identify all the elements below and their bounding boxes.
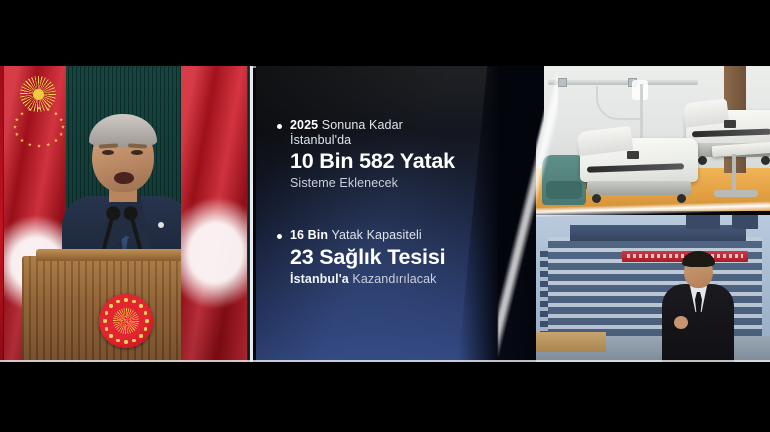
tray-table-leg xyxy=(732,154,736,192)
roof-unit xyxy=(732,215,758,229)
hospital-bed-front xyxy=(580,138,698,182)
bed-wheel xyxy=(761,156,770,165)
presidential-seal-icon xyxy=(99,294,153,348)
speaker-mouth xyxy=(114,172,134,184)
reporter-hand xyxy=(674,316,688,329)
left-panel-podium-speaker xyxy=(0,66,253,362)
bed-control-panel xyxy=(627,151,639,159)
reporter-hair xyxy=(682,251,715,267)
lapel-pin xyxy=(158,222,164,228)
eye-right xyxy=(131,150,143,155)
tray-table-foot xyxy=(714,190,758,197)
wall-rail xyxy=(548,80,698,85)
band-bottom-edge xyxy=(0,360,770,362)
right-bottom-hospital-exterior xyxy=(536,215,770,362)
speaker-figure xyxy=(62,118,190,268)
screenshot-root: 2025 Sonuna Kadar İstanbul'da 10 Bin 582… xyxy=(0,0,770,432)
center-panel-statistics-graphic: 2025 Sonuna Kadar İstanbul'da 10 Bin 582… xyxy=(256,66,536,362)
hospital-bed-back xyxy=(686,110,770,144)
stat1-year: 2025 xyxy=(290,118,318,132)
stat1-line1-rest: Sonuna Kadar xyxy=(318,118,403,132)
right-top-hospital-room xyxy=(536,66,770,211)
construction-ground xyxy=(536,332,606,352)
seal-sunburst-icon xyxy=(113,308,139,334)
wall-outlet xyxy=(558,78,567,87)
stat2-city: İstanbul'a xyxy=(290,272,349,286)
bed-control-panel xyxy=(724,120,736,128)
stat2-capacity: 16 Bin xyxy=(290,228,328,242)
left-frame-edge xyxy=(0,66,3,362)
stat2-line1-rest: Yatak Kapasiteli xyxy=(328,228,422,242)
bed-wheel xyxy=(592,194,601,203)
eye-left xyxy=(102,150,114,155)
bed-wheel xyxy=(698,156,707,165)
bed-base xyxy=(587,181,691,195)
iv-pole xyxy=(640,84,643,142)
news-reporter-figure xyxy=(662,254,734,362)
roof-unit xyxy=(686,215,720,229)
turkish-flag xyxy=(181,66,247,362)
sunburst-core xyxy=(33,89,44,100)
stat2-subline-rest: Kazandırılacak xyxy=(349,272,437,286)
flag-crescent-highlight xyxy=(181,192,247,313)
video-content-band: 2025 Sonuna Kadar İstanbul'da 10 Bin 582… xyxy=(0,66,770,362)
sixteen-stars-icon xyxy=(12,106,66,148)
speaker-hair xyxy=(89,114,157,148)
bullet-dot-icon xyxy=(277,124,282,129)
